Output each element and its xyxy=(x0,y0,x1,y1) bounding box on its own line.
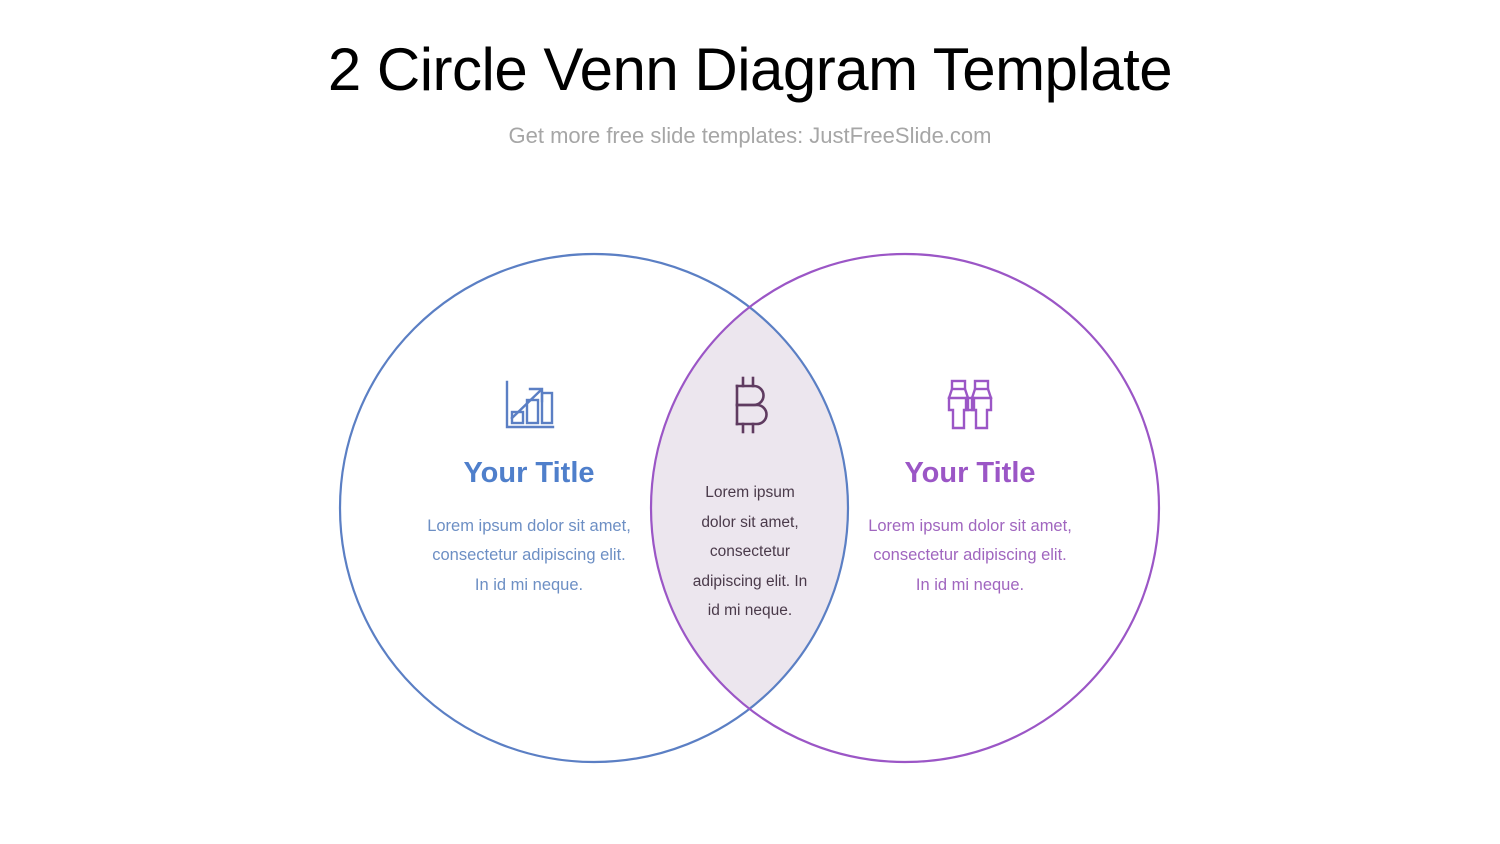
bitcoin-icon xyxy=(676,376,824,434)
venn-center-body-line: Lorem ipsum xyxy=(676,478,824,508)
venn-left-title: Your Title xyxy=(404,434,654,490)
venn-center-body-line: dolor sit amet, xyxy=(676,508,824,538)
venn-diagram: Your Title Lorem ipsum dolor sit amet, c… xyxy=(0,0,1500,844)
venn-center-body-line: adipiscing elit. In xyxy=(676,567,824,597)
venn-right-panel: Your Title Lorem ipsum dolor sit amet, c… xyxy=(845,376,1095,600)
venn-left-body-line: Lorem ipsum dolor sit amet, xyxy=(404,512,654,542)
venn-left-body-line: In id mi neque. xyxy=(404,571,654,601)
venn-center-body-line: id mi neque. xyxy=(676,596,824,626)
venn-right-body-line: Lorem ipsum dolor sit amet, xyxy=(845,512,1095,542)
venn-left-panel: Your Title Lorem ipsum dolor sit amet, c… xyxy=(404,376,654,600)
bar-chart-growth-icon xyxy=(404,376,654,434)
venn-left-body-line: consectetur adipiscing elit. xyxy=(404,541,654,571)
venn-center-panel: Lorem ipsum dolor sit amet, consectetur … xyxy=(676,376,824,626)
venn-right-body: Lorem ipsum dolor sit amet, consectetur … xyxy=(845,490,1095,601)
slide-canvas: 2 Circle Venn Diagram Template Get more … xyxy=(0,0,1500,844)
venn-right-body-line: In id mi neque. xyxy=(845,571,1095,601)
venn-right-title: Your Title xyxy=(845,434,1095,490)
venn-right-body-line: consectetur adipiscing elit. xyxy=(845,541,1095,571)
binoculars-icon xyxy=(845,376,1095,434)
venn-left-body: Lorem ipsum dolor sit amet, consectetur … xyxy=(404,490,654,601)
venn-center-body-line: consectetur xyxy=(676,537,824,567)
venn-center-body: Lorem ipsum dolor sit amet, consectetur … xyxy=(676,434,824,626)
